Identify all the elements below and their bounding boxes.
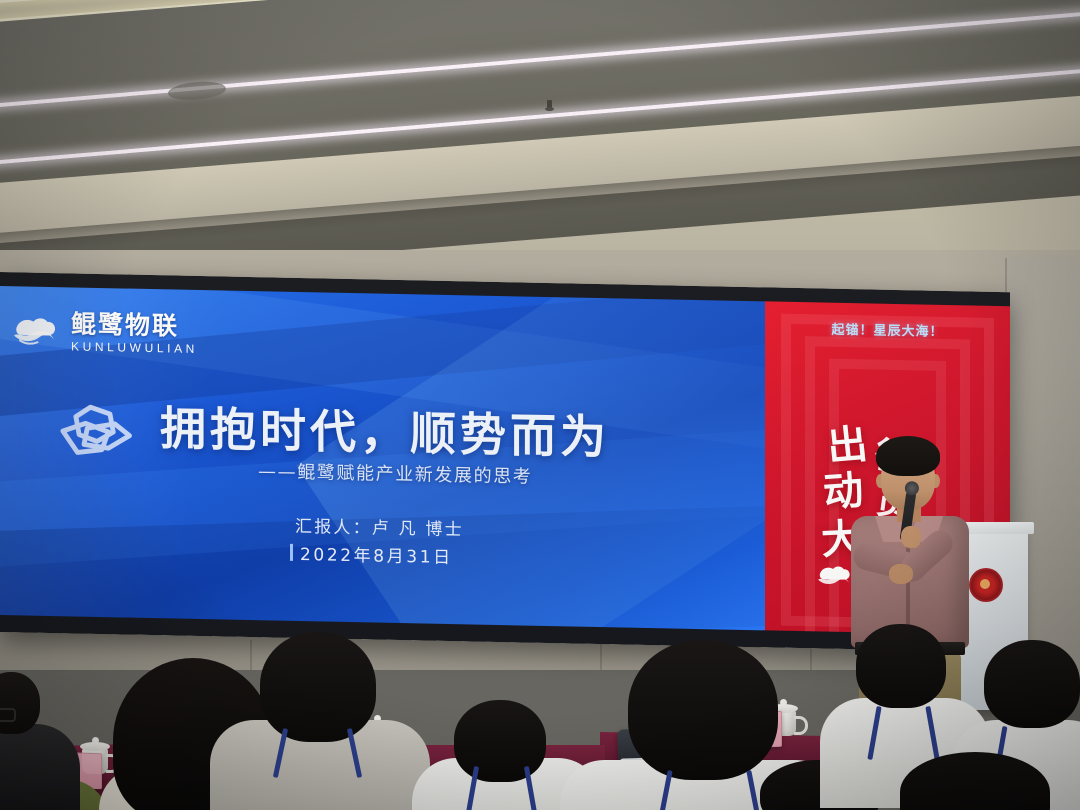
- slide-brand-lockup: 鲲鹭物联 KUNLUWULIAN: [10, 310, 198, 355]
- hexagon-cube-logo-icon: [48, 395, 146, 475]
- speaker-hand-lower: [889, 564, 913, 584]
- slide-presenter: 汇报人：卢 凡 博士: [295, 512, 464, 540]
- slide-brand-en: KUNLUWULIAN: [71, 340, 198, 355]
- ceiling: [0, 0, 1080, 268]
- audience-head: [856, 624, 946, 708]
- date-accent-bar: [290, 544, 293, 561]
- slide-date-row: 2022年8月31日: [290, 540, 453, 568]
- eyeglasses: [0, 708, 16, 722]
- presentation-slide: 鲲鹭物联 KUNLUWULIAN 拥抱时代，顺势而为 ——鲲鹭赋能产业新发展的思…: [0, 284, 765, 635]
- sprinkler-head: [545, 100, 554, 116]
- audience-head: [0, 672, 40, 734]
- audience-head: [628, 640, 778, 780]
- slide-date: 2022年8月31日: [300, 540, 453, 568]
- audience-head: [454, 700, 546, 782]
- slide-subtitle: ——鲲鹭赋能产业新发展的思考: [258, 457, 532, 489]
- audience-head: [260, 632, 376, 742]
- audience-head: [984, 640, 1080, 728]
- speaker-hair: [876, 436, 940, 476]
- audience-shoulders: [0, 724, 80, 810]
- speaker-hand-holding-mic: [901, 526, 921, 548]
- slide-brand-cn: 鲲鹭物联: [71, 311, 198, 339]
- slide-title: 拥抱时代，顺势而为: [160, 392, 610, 467]
- wall-seam-2: [600, 640, 602, 700]
- wall-seam-3: [810, 640, 812, 700]
- conference-photo-scene: 鲲鹭物联 KUNLUWULIAN 拥抱时代，顺势而为 ——鲲鹭赋能产业新发展的思…: [0, 0, 1080, 810]
- kunlu-bird-cloud-icon: [10, 313, 62, 350]
